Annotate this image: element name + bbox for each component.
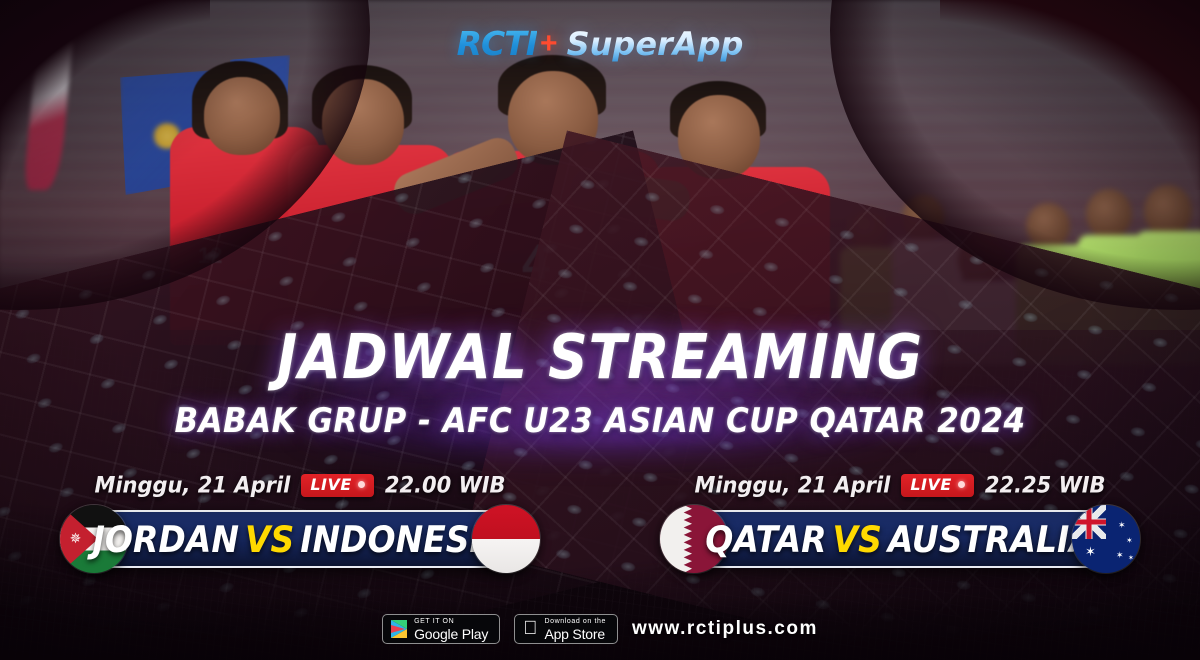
match-date-1: Minggu, 21 April	[94, 472, 290, 497]
away-team-2: AUSTRALIA	[888, 518, 1095, 561]
live-label-2: LIVE	[910, 477, 951, 493]
rctiplus-logo[interactable]: RCTI + SuperApp	[0, 24, 1200, 63]
logo-rcti-text: RCTI	[457, 24, 537, 63]
app-store-small-label: Download on the	[544, 618, 606, 625]
match-meta-1: Minggu, 21 April LIVE 22.00 WIB	[0, 470, 600, 500]
live-badge-1[interactable]: LIVE	[301, 474, 373, 497]
apple-icon: 	[523, 619, 537, 638]
app-store-label: App Store	[544, 627, 606, 641]
vs-label-1: VS	[245, 518, 294, 561]
match-meta-2: Minggu, 21 April LIVE 22.25 WIB	[600, 470, 1200, 500]
google-play-small-label: GET IT ON	[414, 618, 488, 625]
footer-bar: GET IT ON Google Play  Download on the …	[0, 598, 1200, 660]
match-teams-1: JORDANVSINDONESIA	[93, 518, 508, 561]
match-teams-2: QATARVSAUSTRALIA	[705, 518, 1095, 561]
vs-label-2: VS	[833, 518, 882, 561]
match-time-1: 22.00 WIB	[385, 472, 506, 497]
google-play-label: Google Play	[414, 627, 488, 641]
title-block: JADWAL STREAMING BABAK GRUP - AFC U23 AS…	[0, 330, 1200, 439]
match-bar-1[interactable]: ✵ JORDANVSINDONESIA	[70, 510, 530, 568]
website-url[interactable]: www.rctiplus.com	[632, 618, 818, 640]
google-play-button[interactable]: GET IT ON Google Play	[382, 614, 500, 644]
logo-plus-icon: +	[540, 27, 558, 61]
app-store-button[interactable]:  Download on the App Store	[514, 614, 618, 644]
home-team-2: QATAR	[705, 518, 826, 561]
live-dot-icon	[958, 481, 965, 488]
home-team-1: JORDAN	[93, 518, 239, 561]
indonesia-flag-icon	[472, 505, 540, 573]
page-title: JADWAL STREAMING	[0, 327, 1200, 389]
match-date-2: Minggu, 21 April	[694, 472, 890, 497]
match-card-2[interactable]: Minggu, 21 April LIVE 22.25 WIB QATARVSA…	[600, 470, 1200, 568]
live-dot-icon	[358, 481, 365, 488]
google-play-icon	[391, 620, 407, 638]
live-label-1: LIVE	[310, 477, 351, 493]
match-list: Minggu, 21 April LIVE 22.00 WIB ✵ JORDAN…	[0, 470, 1200, 568]
match-time-2: 22.25 WIB	[985, 472, 1106, 497]
australia-flag-icon: ✶ ✶ ✶ ✶ ✶	[1072, 505, 1140, 573]
match-card-1[interactable]: Minggu, 21 April LIVE 22.00 WIB ✵ JORDAN…	[0, 470, 600, 568]
poster-root: 12 4	[0, 0, 1200, 660]
logo-superapp-text: SuperApp	[567, 25, 744, 63]
live-badge-2[interactable]: LIVE	[901, 474, 973, 497]
match-bar-2[interactable]: QATARVSAUSTRALIA ✶ ✶ ✶ ✶ ✶	[670, 510, 1130, 568]
page-subtitle: BABAK GRUP - AFC U23 ASIAN CUP QATAR 202…	[0, 402, 1200, 441]
